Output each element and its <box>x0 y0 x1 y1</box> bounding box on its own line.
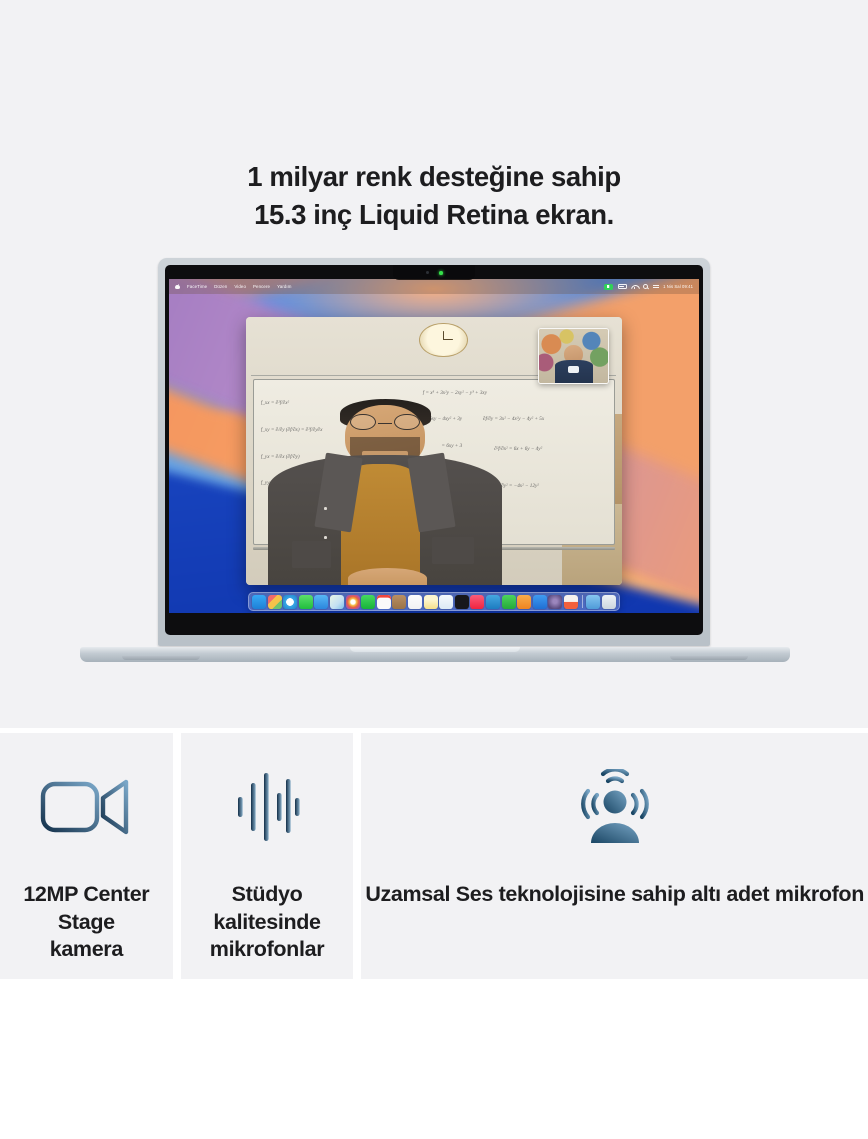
wall-clock-icon <box>419 323 468 358</box>
feature-icon-wrap <box>573 733 657 881</box>
dock-item-calendar[interactable] <box>377 595 391 609</box>
spatial-audio-icon <box>573 769 657 845</box>
battery-icon[interactable] <box>618 284 627 289</box>
menu-item-pencere[interactable]: Pencere <box>253 284 270 289</box>
apple-logo-icon[interactable] <box>175 284 180 290</box>
product-feature-page: 1 milyar renk desteğine sahip 15.3 inç L… <box>0 0 868 1139</box>
menu-item-facetime[interactable]: FaceTime <box>187 284 207 289</box>
lid-open-notch <box>350 647 520 652</box>
video-camera-icon <box>40 776 132 838</box>
dock-item-notes[interactable] <box>424 595 438 609</box>
dock-item-freeform[interactable] <box>439 595 453 609</box>
glasses-icon <box>350 414 376 431</box>
facetime-window[interactable]: f_xx = ∂²f/∂x² f_xy = ∂/∂y (∂f/∂x) = ∂²f… <box>246 317 622 584</box>
dock-item-safari[interactable] <box>283 595 297 609</box>
dock-item-mail[interactable] <box>314 595 328 609</box>
audio-waveform-icon <box>234 769 300 845</box>
headline-line-1: 1 milyar renk desteğine sahip <box>247 161 621 192</box>
dock-item-music[interactable] <box>470 595 484 609</box>
dock-item-photos[interactable] <box>346 595 360 609</box>
feature-title: Stüdyo kalitesinde mikrofonlar <box>181 881 354 964</box>
laptop-screen: FaceTime Düzen Video Pencere Yardım <box>169 279 699 613</box>
dock-item-trash[interactable] <box>602 595 616 609</box>
headline-line-2: 15.3 inç Liquid Retina ekran. <box>254 199 614 230</box>
camera-icon <box>426 271 429 274</box>
search-icon[interactable] <box>643 284 649 290</box>
feature-cards: 12MP Center Stage kamera <box>0 733 868 979</box>
menu-item-video[interactable]: Video <box>234 284 246 289</box>
pip-participant-video[interactable] <box>538 328 609 384</box>
dock-item-maps[interactable] <box>330 595 344 609</box>
main-participant-video <box>268 376 501 584</box>
laptop-foot <box>122 656 200 660</box>
feature-icon-wrap <box>40 733 132 881</box>
dock-item-finder[interactable] <box>252 595 266 609</box>
dock-item-messages[interactable] <box>299 595 313 609</box>
dock-item-reminders[interactable] <box>408 595 422 609</box>
feature-icon-wrap <box>234 733 300 881</box>
menu-item-yardim[interactable]: Yardım <box>277 284 291 289</box>
dock-item-numbers[interactable] <box>501 595 515 609</box>
hero-section: 1 milyar renk desteğine sahip 15.3 inç L… <box>0 0 868 728</box>
dock-item-apple-tv[interactable] <box>455 595 469 609</box>
wifi-icon[interactable] <box>631 284 638 289</box>
feature-title: 12MP Center Stage kamera <box>0 881 173 964</box>
feature-card-microphones[interactable]: Stüdyo kalitesinde mikrofonlar <box>181 733 354 979</box>
camera-notch <box>393 265 475 280</box>
menu-item-duzen[interactable]: Düzen <box>214 284 227 289</box>
control-center-icon[interactable] <box>653 284 659 290</box>
dock-item-app-store[interactable] <box>533 595 547 609</box>
macos-menu-bar[interactable]: FaceTime Düzen Video Pencere Yardım <box>169 279 699 294</box>
feature-card-spatial-audio[interactable]: Uzamsal Ses teknolojisine sahip altı ade… <box>361 733 868 979</box>
camera-active-icon[interactable] <box>604 284 613 290</box>
dock-item-facetime[interactable] <box>361 595 375 609</box>
feature-card-camera[interactable]: 12MP Center Stage kamera <box>0 733 173 979</box>
laptop-bezel: FaceTime Düzen Video Pencere Yardım <box>165 265 703 635</box>
dock-item-podcasts[interactable] <box>548 595 562 609</box>
dock-item-pages[interactable] <box>517 595 531 609</box>
laptop-base <box>80 647 790 662</box>
camera-indicator-icon <box>439 271 443 275</box>
macbook-air-illustration: FaceTime Düzen Video Pencere Yardım <box>80 258 790 670</box>
dock-item-system-settings[interactable] <box>586 595 600 609</box>
feature-title: Uzamsal Ses teknolojisine sahip altı ade… <box>361 881 868 909</box>
dock-item-launchpad[interactable] <box>268 595 282 609</box>
page-title: 1 milyar renk desteğine sahip 15.3 inç L… <box>0 158 868 234</box>
menu-bar-clock[interactable]: 1 Nis Sal 09:41 <box>663 284 693 289</box>
laptop-lid: FaceTime Düzen Video Pencere Yardım <box>158 258 710 646</box>
dock-item-contacts[interactable] <box>392 595 406 609</box>
dock-item-books[interactable] <box>564 595 578 609</box>
macos-dock[interactable] <box>248 592 620 611</box>
dock-separator <box>582 595 583 608</box>
dock-item-keynote[interactable] <box>486 595 500 609</box>
laptop-foot <box>670 656 748 660</box>
